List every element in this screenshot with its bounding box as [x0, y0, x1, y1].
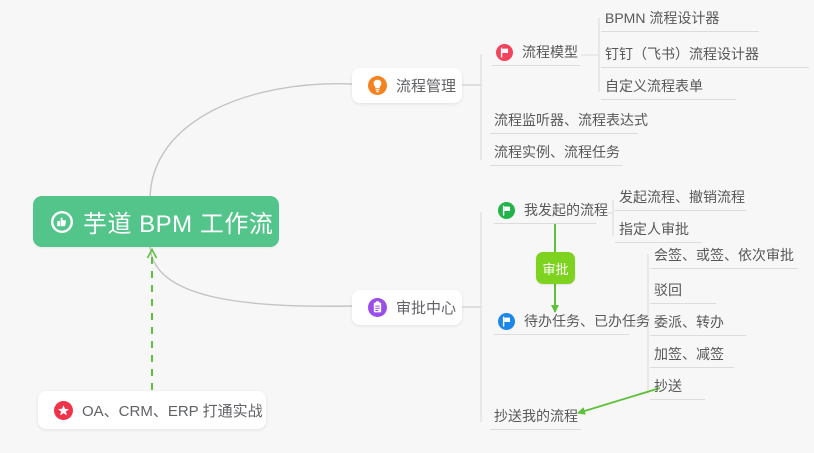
root-connectors — [150, 84, 352, 307]
approval-badge[interactable]: 审批 — [536, 252, 575, 284]
clipboard-icon — [368, 298, 387, 317]
leaf-cc[interactable]: 抄送 — [650, 376, 705, 400]
card-stubs — [462, 85, 481, 307]
leaf-label-process-listener-expression: 流程监听器、流程表达式 — [494, 110, 648, 130]
bracket-process-model — [581, 18, 599, 92]
lightbulb-icon — [368, 76, 387, 95]
leaf-process-model[interactable]: 流程模型 — [492, 42, 580, 66]
branch-node-approval-center[interactable]: 审批中心 — [352, 290, 462, 325]
leaf-todo-done-tasks[interactable]: 待办任务、已办任务 — [494, 311, 629, 335]
flag-icon-todo-done-tasks — [498, 313, 515, 330]
flag-icon-process-model — [496, 44, 513, 61]
leaf-dingtalk-feishu-designer[interactable]: 钉钉（飞书）流程设计器 — [601, 44, 809, 68]
branch-label-approval-center: 审批中心 — [396, 297, 456, 318]
branch-label-process-management: 流程管理 — [396, 75, 456, 96]
leaf-custom-process-form[interactable]: 自定义流程表单 — [601, 76, 736, 100]
leaf-countersign[interactable]: 会签、或签、依次审批 — [650, 245, 798, 269]
leaf-delegate-transfer[interactable]: 委派、转办 — [650, 312, 746, 336]
integration-node-label: OA、CRM、ERP 打通实战 — [82, 400, 263, 421]
leaf-cc-to-me-process[interactable]: 抄送我的流程 — [490, 406, 581, 430]
leaf-label-countersign: 会签、或签、依次审批 — [654, 245, 794, 265]
leaf-add-remove-sign[interactable]: 加签、减签 — [650, 344, 734, 368]
leaf-my-initiated-process[interactable]: 我发起的流程 — [494, 200, 596, 224]
leaf-label-bpmn-designer: BPMN 流程设计器 — [605, 8, 719, 28]
leaf-label-cc: 抄送 — [654, 376, 682, 396]
leaf-label-dingtalk-feishu-designer: 钉钉（飞书）流程设计器 — [605, 44, 759, 64]
leaf-assignee-approval[interactable]: 指定人审批 — [615, 219, 702, 243]
mindmap-canvas: 芋道 BPM 工作流 流程管理 流程模型 BPMN 流程设计器 钉钉（飞书 — [0, 0, 814, 453]
arrow-cc-to-ccme — [578, 388, 660, 413]
leaf-bpmn-designer[interactable]: BPMN 流程设计器 — [601, 8, 759, 32]
leaf-start-cancel-process[interactable]: 发起流程、撤销流程 — [615, 187, 746, 211]
leaf-label-start-cancel-process: 发起流程、撤销流程 — [619, 187, 745, 207]
thumbs-up-icon — [51, 211, 73, 233]
star-icon — [54, 401, 73, 420]
connector-root-to-approval-center — [150, 244, 352, 306]
leaf-label-process-model: 流程模型 — [522, 42, 578, 62]
leaf-process-listener-expression[interactable]: 流程监听器、流程表达式 — [490, 110, 638, 134]
leaf-label-delegate-transfer: 委派、转办 — [654, 312, 724, 332]
root-node[interactable]: 芋道 BPM 工作流 — [33, 196, 279, 247]
leaf-label-reject: 驳回 — [654, 280, 682, 300]
leaf-reject[interactable]: 驳回 — [650, 280, 716, 304]
leaf-label-todo-done-tasks: 待办任务、已办任务 — [524, 311, 650, 331]
leaf-label-assignee-approval: 指定人审批 — [619, 219, 689, 239]
connector-root-to-process-mgmt — [150, 84, 352, 200]
flag-icon-my-initiated-process — [498, 202, 515, 219]
root-node-label: 芋道 BPM 工作流 — [83, 204, 273, 239]
leaf-label-process-instance-task: 流程实例、流程任务 — [494, 142, 620, 162]
leaf-label-add-remove-sign: 加签、减签 — [654, 344, 724, 364]
branch-node-process-management[interactable]: 流程管理 — [352, 68, 462, 103]
leaf-label-cc-to-me-process: 抄送我的流程 — [494, 406, 578, 426]
leaf-label-custom-process-form: 自定义流程表单 — [605, 76, 703, 96]
leaf-process-instance-task[interactable]: 流程实例、流程任务 — [490, 142, 623, 166]
integration-node[interactable]: OA、CRM、ERP 打通实战 — [38, 391, 266, 429]
approval-badge-label: 审批 — [542, 259, 568, 278]
leaf-label-my-initiated-process: 我发起的流程 — [524, 200, 608, 220]
